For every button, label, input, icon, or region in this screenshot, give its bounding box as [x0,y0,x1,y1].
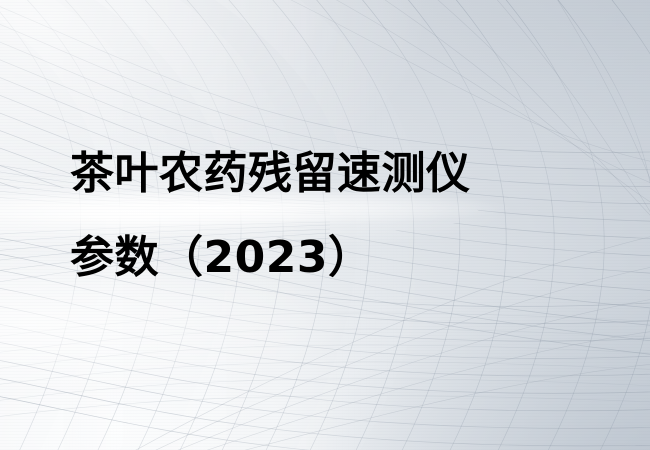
title-banner: 茶叶农药残留速测仪 参数（2023） [0,0,650,450]
title-line-1: 茶叶农药残留速测仪 [70,132,590,216]
title-line-2: 参数（2023） [70,216,590,300]
page-title: 茶叶农药残留速测仪 参数（2023） [70,132,590,300]
